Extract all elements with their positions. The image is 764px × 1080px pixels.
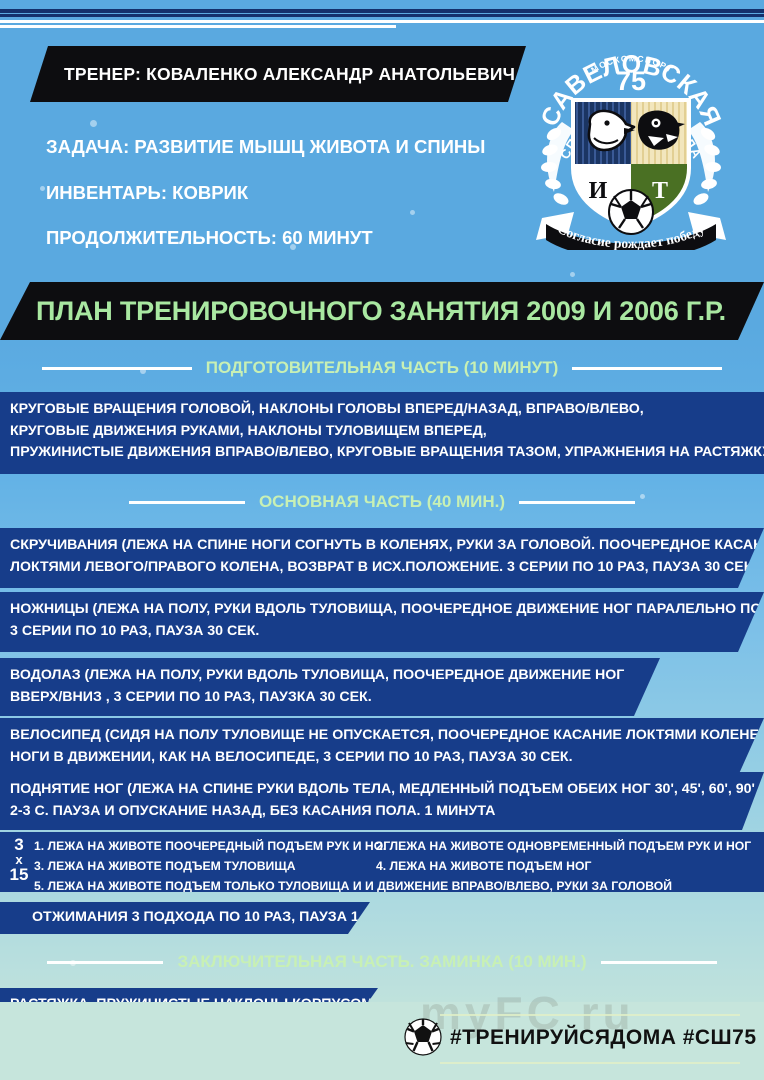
exercise-label: 1. ЛЕЖА НА ЖИВОТЕ ПООЧЕРЕДНЫЙ ПОДЪЕМ РУК… [34,840,376,852]
block-line: ПОДНЯТИЕ НОГ (ЛЕЖА НА СПИНЕ РУКИ ВДОЛЬ Т… [10,779,764,801]
hashtag-rule-bottom [440,1062,740,1064]
top-rule-navy-1 [0,9,764,13]
block-line: 2-3 С. ПАУЗА И ОПУСКАНИЕ НАЗАД, БЕЗ КАСА… [10,801,764,823]
emblem-letter-left: И [589,178,608,204]
decor-speck [90,120,97,127]
sets-multiplier: 3 х 15 [6,836,32,883]
multiplier-reps: 15 [6,866,32,883]
header-rule-left [42,367,192,370]
block-line: НОЖНИЦЫ (ЛЕЖА НА ПОЛУ, РУКИ ВДОЛЬ ТУЛОВИ… [10,599,764,621]
header-rule-right [519,501,635,504]
block-line: НОГИ В ДВИЖЕНИИ, КАК НА ВЕЛОСИПЕДЕ, 3 СЕ… [10,747,764,769]
section-header-label: ЗАКЛЮЧИТЕЛЬНАЯ ЧАСТЬ. ЗАМИНКА (10 МИН.) [177,952,586,972]
main-title-banner: ПЛАН ТРЕНИРОВОЧНОГО ЗАНЯТИЯ 2009 И 2006 … [0,282,764,340]
emblem-number: 75 [616,66,646,96]
list-item: 1. ЛЕЖА НА ЖИВОТЕ ПООЧЕРЕДНЫЙ ПОДЪЕМ РУК… [34,840,751,852]
laurel-left [541,122,574,207]
coach-banner: ТРЕНЕР: КОВАЛЕНКО АЛЕКСАНДР АНАТОЛЬЕВИЧ [30,46,526,102]
block-line: ЛОКТЯМИ ЛЕВОГО/ПРАВОГО КОЛЕНА, ВОЗВРАТ В… [10,557,764,579]
meta-equipment: ИНВЕНТАРЬ: КОВРИК [46,182,248,204]
decor-speck [40,186,45,191]
block-line: ПРУЖИНИСТЫЕ ДВИЖЕНИЯ ВПРАВО/ВЛЕВО, КРУГО… [10,442,764,464]
block-line: КРУГОВЫЕ ДВИЖЕНИЯ РУКАМИ, НАКЛОНЫ ТУЛОВИ… [10,421,764,443]
decor-speck [410,210,415,215]
exercise-label: 5. ЛЕЖА НА ЖИВОТЕ ПОДЪЕМ ТОЛЬКО ТУЛОВИЩА… [34,880,672,892]
prone-exercise-list: 1. ЛЕЖА НА ЖИВОТЕ ПООЧЕРЕДНЫЙ ПОДЪЕМ РУК… [34,840,751,893]
meta-goal: ЗАДАЧА: РАЗВИТИЕ МЫШЦ ЖИВОТА И СПИНЫ [46,136,485,158]
emblem-shield: И Т [573,100,689,234]
header-rule-left [129,501,245,504]
block-crunches: СКРУЧИВАНИЯ (ЛЕЖА НА СПИНЕ НОГИ СОГНУТЬ … [0,528,764,588]
emblem-svg: МОСКОМСПОРТ САВЕЛОВСКАЯ СПОРТИВНАЯ ШКОЛА… [528,18,734,250]
exercise-label: 3. ЛЕЖА НА ЖИВОТЕ ПОДЪЕМ ТУЛОВИЩА [34,860,376,872]
exercise-label: 4. ЛЕЖА НА ЖИВОТЕ ПОДЪЕМ НОГ [376,860,591,872]
block-line: 3 СЕРИИ ПО 10 РАЗ, ПАУЗА 30 СЕК. [10,621,764,643]
block-line: СКРУЧИВАНИЯ (ЛЕЖА НА СПИНЕ НОГИ СОГНУТЬ … [10,535,764,557]
block-line: ОТЖИМАНИЯ 3 ПОДХОДА ПО 10 РАЗ, ПАУЗА 1 М… [32,907,399,929]
coach-label: ТРЕНЕР: КОВАЛЕНКО АЛЕКСАНДР АНАТОЛЬЕВИЧ [64,64,515,85]
emblem-letter-right: Т [652,178,668,204]
block-line: КРУГОВЫЕ ВРАЩЕНИЯ ГОЛОВОЙ, НАКЛОНЫ ГОЛОВ… [10,399,764,421]
header-rule-right [601,961,717,964]
block-line: ВВЕРХ/ВНИЗ , 3 СЕРИИ ПО 10 РАЗ, ПАУЗКА 3… [10,687,660,709]
training-plan-poster: ТРЕНЕР: КОВАЛЕНКО АЛЕКСАНДР АНАТОЛЬЕВИЧ … [0,0,764,1080]
section-header-label: ПОДГОТОВИТЕЛЬНАЯ ЧАСТЬ (10 МИНУТ) [206,358,559,378]
list-item: 5. ЛЕЖА НА ЖИВОТЕ ПОДЪЕМ ТОЛЬКО ТУЛОВИЩА… [34,880,751,892]
meta-duration: ПРОДОЛЖИТЕЛЬНОСТЬ: 60 МИНУТ [46,227,373,249]
multiplier-sets: 3 [6,836,32,853]
block-line: ВЕЛОСИПЕД (СИДЯ НА ПОЛУ ТУЛОВИЩЕ НЕ ОПУС… [10,725,764,747]
laurel-right [688,122,721,207]
soccer-ball-icon [404,1018,442,1056]
section-header-label: ОСНОВНАЯ ЧАСТЬ (40 МИН.) [259,492,505,512]
section-header-final: ЗАКЛЮЧИТЕЛЬНАЯ ЧАСТЬ. ЗАМИНКА (10 МИН.) [0,952,764,972]
block-bicycle: ВЕЛОСИПЕД (СИДЯ НА ПОЛУ ТУЛОВИЩЕ НЕ ОПУС… [0,718,764,776]
block-line: ВОДОЛАЗ (ЛЕЖА НА ПОЛУ, РУКИ ВДОЛЬ ТУЛОВИ… [10,665,660,687]
list-item: 3. ЛЕЖА НА ЖИВОТЕ ПОДЪЕМ ТУЛОВИЩА 4. ЛЕЖ… [34,860,751,872]
decor-speck [570,272,575,277]
hashtag-rule-top [440,1014,740,1016]
hashtags: #ТРЕНИРУЙСЯДОМА #СШ75 [450,1026,757,1050]
section-header-preparatory: ПОДГОТОВИТЕЛЬНАЯ ЧАСТЬ (10 МИНУТ) [0,358,764,378]
block-diver: ВОДОЛАЗ (ЛЕЖА НА ПОЛУ, РУКИ ВДОЛЬ ТУЛОВИ… [0,658,660,716]
block-scissors: НОЖНИЦЫ (ЛЕЖА НА ПОЛУ, РУКИ ВДОЛЬ ТУЛОВИ… [0,592,764,652]
school-emblem: МОСКОМСПОРТ САВЕЛОВСКАЯ СПОРТИВНАЯ ШКОЛА… [528,18,734,250]
block-preparatory: КРУГОВЫЕ ВРАЩЕНИЯ ГОЛОВОЙ, НАКЛОНЫ ГОЛОВ… [0,392,764,474]
block-prone-exercises: 3 х 15 1. ЛЕЖА НА ЖИВОТЕ ПООЧЕРЕДНЫЙ ПОД… [0,832,764,892]
page-title: ПЛАН ТРЕНИРОВОЧНОГО ЗАНЯТИЯ 2009 И 2006 … [36,296,726,327]
block-pushups: ОТЖИМАНИЯ 3 ПОДХОДА ПО 10 РАЗ, ПАУЗА 1 М… [0,902,370,934]
header-rule-right [572,367,722,370]
emblem-soccer-ball-icon [609,190,653,234]
top-rule-white-2 [0,25,396,28]
top-rule-navy-2 [0,14,764,17]
block-leg-raises: ПОДНЯТИЕ НОГ (ЛЕЖА НА СПИНЕ РУКИ ВДОЛЬ Т… [0,772,764,830]
exercise-label: 2. ЛЕЖА НА ЖИВОТЕ ОДНОВРЕМЕННЫЙ ПОДЪЕМ Р… [376,840,751,852]
section-header-main: ОСНОВНАЯ ЧАСТЬ (40 МИН.) [0,492,764,512]
header-rule-left [47,961,163,964]
